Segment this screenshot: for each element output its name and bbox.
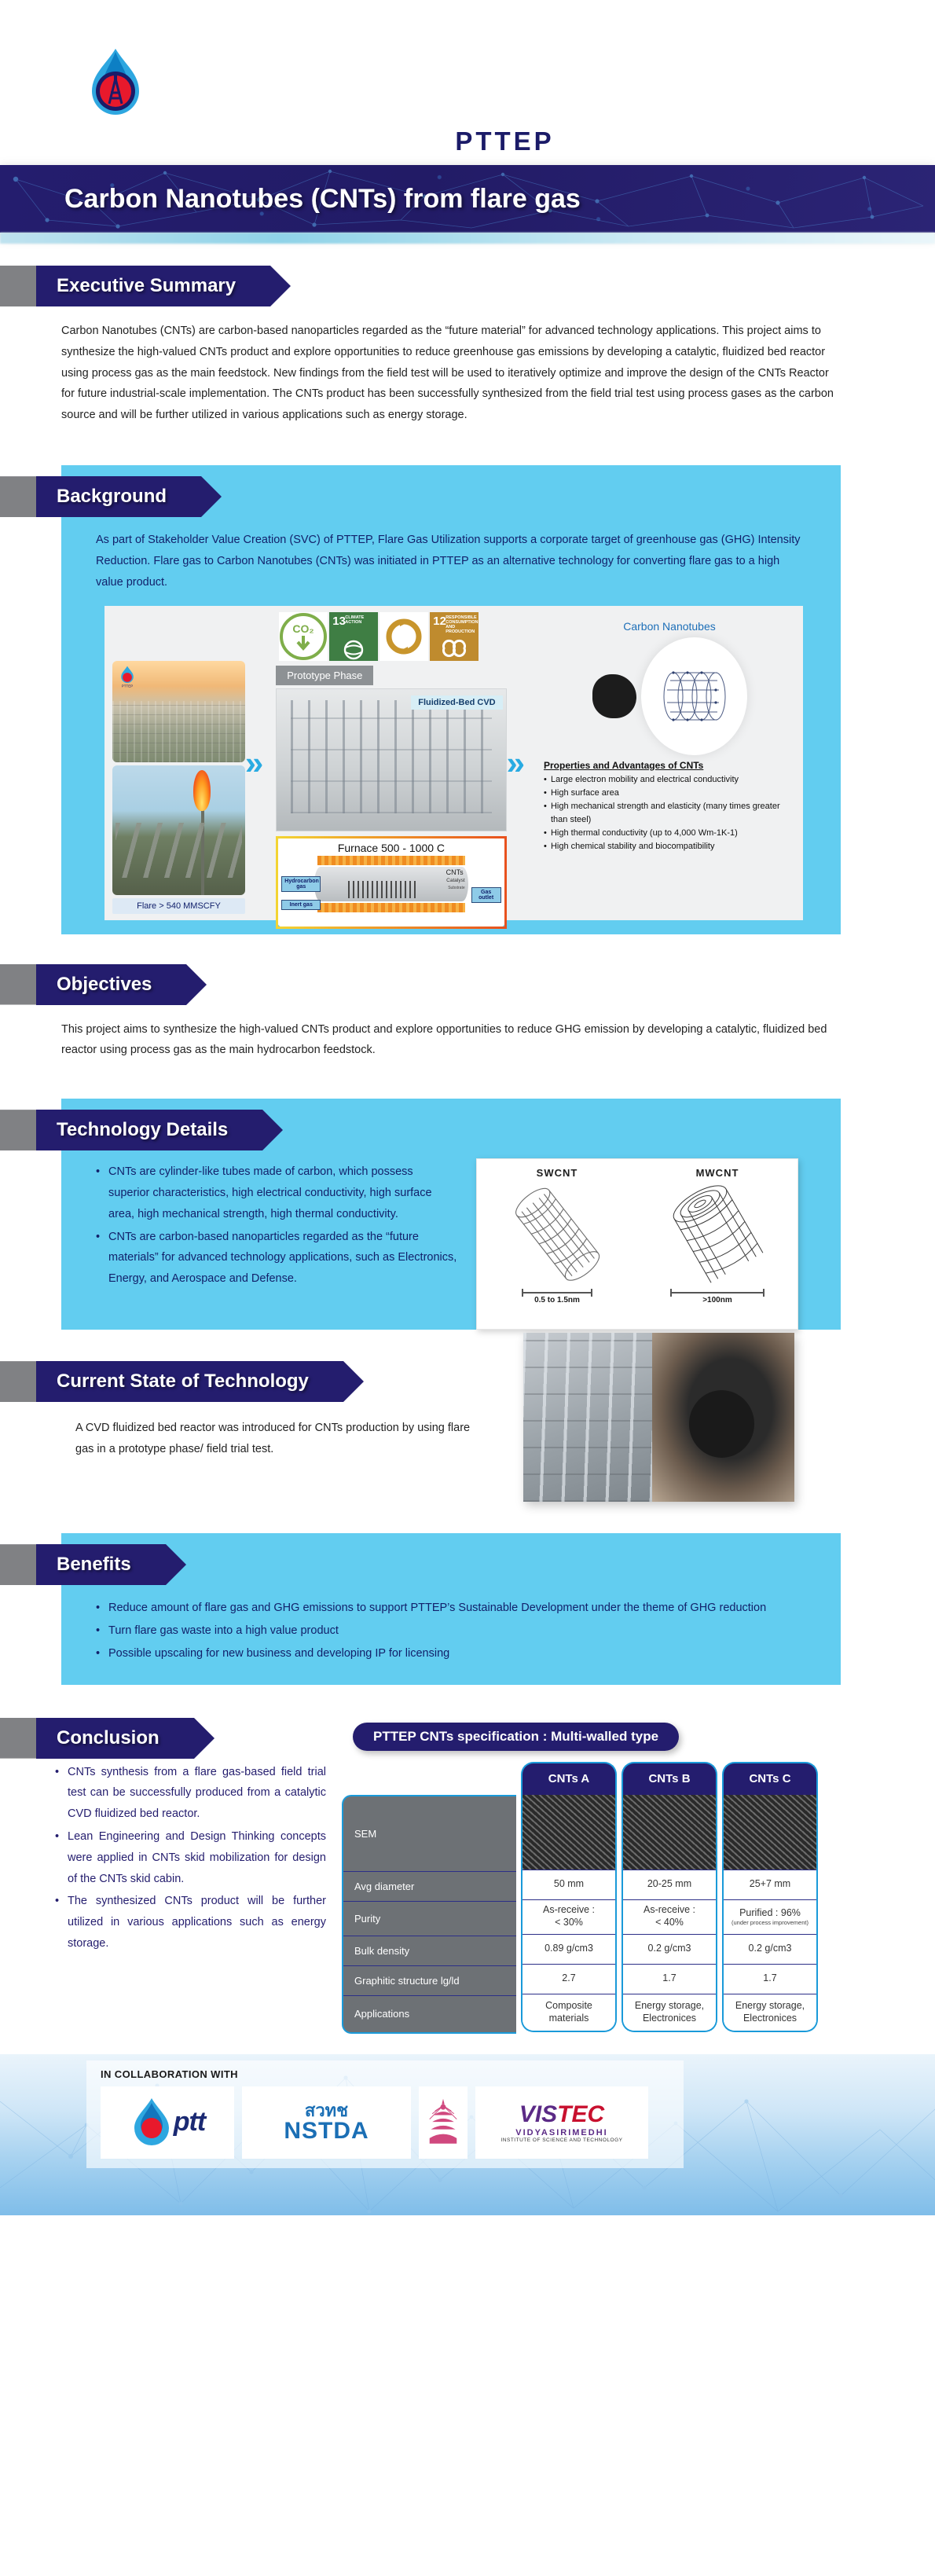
pumpjack-rigs-icon bbox=[115, 823, 242, 878]
cnt-powder-icon bbox=[592, 674, 636, 718]
vistec-institute-line: INSTITUTE OF SCIENCE AND TECHNOLOGY bbox=[501, 2137, 623, 2143]
applications-cnts-a: Composite materials bbox=[522, 1994, 615, 2031]
graphitic-cnts-b: 1.7 bbox=[623, 1965, 716, 1994]
technology-bullets: CNTs are cylinder-like tubes made of car… bbox=[61, 1150, 470, 1310]
swcnt-mwcnt-figure: SWCNT 0.5 to 1.5 bbox=[476, 1158, 798, 1330]
property-item: High chemical stability and biocompatibi… bbox=[544, 840, 795, 853]
graphitic-cnts-c: 1.7 bbox=[724, 1965, 816, 1994]
sem-image-cnts-a bbox=[522, 1795, 615, 1870]
ptt-wordmark: ptt bbox=[174, 2107, 205, 2137]
spec-column-cnts-b: CNTs B 20-25 mm As-receive : < 40% 0.2 g… bbox=[621, 1762, 717, 2034]
reactor-skid-photo: Fluidized-Bed CVD bbox=[276, 688, 506, 831]
background-panel: Background As part of Stakeholder Value … bbox=[61, 465, 841, 934]
executive-summary-text: Carbon Nanotubes (CNTs) are carbon-based… bbox=[0, 306, 935, 442]
benefits-panel: Benefits Reduce amount of flare gas and … bbox=[61, 1533, 841, 1684]
ptt-flame-icon bbox=[130, 2097, 174, 2149]
brand-name: PTTEP bbox=[75, 127, 935, 156]
cnt-powder-scoop-photo bbox=[652, 1333, 794, 1502]
furnace-schematic: Furnace 500 - 1000 C CNTs Catalyst Subst… bbox=[276, 836, 506, 929]
cnts-specification-table-area: PTTEP CNTs specification : Multi-walled … bbox=[342, 1718, 845, 2034]
footer: IN COLLABORATION WITH ptt สวทช NSTDA bbox=[0, 2054, 935, 2215]
inert-gas-input: Inert gas bbox=[281, 900, 321, 910]
spec-table: SEM Avg diameter Purity Bulk density Gra… bbox=[342, 1762, 845, 2034]
bullet-item: CNTs are carbon-based nanoparticles rega… bbox=[96, 1227, 457, 1290]
fluidized-bed-cvd-tag: Fluidized-Bed CVD bbox=[411, 695, 502, 710]
avg-diameter-cnts-b: 20-25 mm bbox=[623, 1870, 716, 1900]
carbon-nanotubes-label: Carbon Nanotubes bbox=[544, 620, 795, 633]
skid-piping-photo bbox=[523, 1333, 652, 1502]
section-title: Current State of Technology bbox=[36, 1361, 343, 1402]
vistec-tec-text: TEC bbox=[557, 2101, 604, 2127]
collaboration-box: IN COLLABORATION WITH ptt สวทช NSTDA bbox=[86, 2060, 684, 2168]
purity-cnts-b: As-receive : < 40% bbox=[623, 1900, 716, 1935]
applications-line2: Electronices bbox=[743, 2013, 797, 2025]
furnace-title: Furnace 500 - 1000 C bbox=[283, 842, 499, 854]
swcnt-label: SWCNT bbox=[480, 1167, 634, 1179]
flare-photo bbox=[112, 765, 245, 894]
sdg-13-climate-action-icon: 13 CLIMATE ACTION bbox=[329, 612, 378, 661]
mwcnt-scale-bar bbox=[670, 1292, 764, 1294]
pttep-flame-rig-logo bbox=[75, 47, 157, 123]
bullet-item: CNTs synthesis from a flare gas-based fi… bbox=[55, 1762, 326, 1825]
section-header-benefits: Benefits bbox=[0, 1544, 841, 1585]
column-header: CNTs C bbox=[722, 1762, 818, 1795]
technology-details-panel: Technology Details CNTs are cylinder-lik… bbox=[61, 1099, 841, 1330]
row-label-graphitic-structure: Graphitic structure lg/ld bbox=[343, 1966, 516, 1996]
bulk-density-cnts-c: 0.2 g/cm3 bbox=[724, 1935, 816, 1965]
section-title: Technology Details bbox=[36, 1110, 262, 1150]
purity-cnts-c: Purified : 96% (under process improvemen… bbox=[724, 1900, 816, 1935]
purity-line1: As-receive : bbox=[643, 1904, 695, 1917]
property-item: High surface area bbox=[544, 787, 795, 800]
bullet-item: Turn flare gas waste into a high value p… bbox=[96, 1620, 809, 1642]
nstda-logo: สวทช NSTDA bbox=[242, 2086, 411, 2159]
crown-emblem-icon bbox=[428, 2093, 458, 2152]
section-title: Background bbox=[36, 476, 201, 517]
current-state-text: A CVD fluidized bed reactor was introduc… bbox=[0, 1402, 519, 1460]
section-title: Conclusion bbox=[36, 1718, 194, 1759]
section-header-objectives: Objectives bbox=[0, 964, 935, 1005]
svg-text:CO₂: CO₂ bbox=[293, 622, 314, 635]
sem-image-cnts-c bbox=[724, 1795, 816, 1870]
bulk-density-cnts-a: 0.89 g/cm3 bbox=[522, 1935, 615, 1965]
nanotube-structure-icon bbox=[641, 637, 747, 755]
section-header-background: Background bbox=[0, 476, 841, 517]
mwcnt-illustration-icon bbox=[654, 1179, 780, 1289]
row-label-sem: SEM bbox=[343, 1796, 516, 1872]
heater-coil-bottom-icon bbox=[317, 903, 464, 912]
section-header-conclusion: Conclusion bbox=[0, 1718, 342, 1759]
objectives-text: This project aims to synthesize the high… bbox=[0, 1005, 935, 1077]
cnt-product-illustration bbox=[544, 637, 795, 755]
section-header-current-state: Current State of Technology bbox=[0, 1361, 519, 1402]
row-label-applications: Applications bbox=[343, 1996, 516, 2032]
section-title: Executive Summary bbox=[36, 266, 270, 306]
bullet-item: CNTs are cylinder-like tubes made of car… bbox=[96, 1161, 457, 1224]
column-header: CNTs B bbox=[621, 1762, 717, 1795]
section-title: Benefits bbox=[36, 1544, 166, 1585]
chulabhorn-crown-logo bbox=[419, 2086, 467, 2159]
column-header: CNTs A bbox=[521, 1762, 617, 1795]
properties-title: Properties and Advantages of CNTs bbox=[544, 760, 795, 771]
catalyst-label: Catalyst bbox=[446, 878, 464, 883]
poster-page: PTTEP Carbon Nanotubes (CNTs) from flare… bbox=[0, 0, 935, 2215]
reactor-field-photo bbox=[523, 1333, 794, 1502]
avg-diameter-cnts-a: 50 mm bbox=[522, 1870, 615, 1900]
bullet-item: Lean Engineering and Design Thinking con… bbox=[55, 1826, 326, 1889]
avg-diameter-cnts-c: 25+7 mm bbox=[724, 1870, 816, 1900]
properties-list: Large electron mobility and electrical c… bbox=[544, 773, 795, 853]
section-header-executive-summary: Executive Summary bbox=[0, 266, 935, 306]
spec-row-label-column: SEM Avg diameter Purity Bulk density Gra… bbox=[342, 1795, 516, 2034]
swcnt-illustration-icon bbox=[494, 1179, 620, 1289]
spec-table-title: PTTEP CNTs specification : Multi-walled … bbox=[353, 1723, 679, 1751]
row-label-purity: Purity bbox=[343, 1902, 516, 1936]
gas-outlet: Gas outlet bbox=[471, 887, 501, 903]
spec-column-cnts-a: CNTs A 50 mm As-receive : < 30% 0.89 g/c… bbox=[521, 1762, 617, 2034]
bullet-item: The synthesized CNTs product will be fur… bbox=[55, 1891, 326, 1954]
mwcnt-scale-label: >100nm bbox=[640, 1296, 794, 1305]
substrate-label: Substrate bbox=[448, 886, 464, 890]
arrow-chevron-icon: » bbox=[507, 744, 517, 782]
partner-logos: ptt สวทช NSTDA bbox=[101, 2086, 684, 2159]
vistec-logo: VISTEC VIDYASIRIMEDHI INSTITUTE OF SCIEN… bbox=[475, 2086, 648, 2159]
title-banner: Carbon Nanotubes (CNTs) from flare gas bbox=[0, 165, 935, 233]
purity-cnts-a: As-receive : < 30% bbox=[522, 1900, 615, 1935]
section-title: Objectives bbox=[36, 964, 186, 1005]
heater-coil-top-icon bbox=[317, 856, 464, 865]
purity-line2: < 40% bbox=[655, 1917, 684, 1929]
svg-text:PTTEP: PTTEP bbox=[122, 684, 134, 688]
property-item: High mechanical strength and elasticity … bbox=[544, 800, 795, 827]
applications-line1: Energy storage, bbox=[635, 2000, 704, 2013]
sdg-co2-icon: CO₂ bbox=[279, 612, 328, 661]
applications-line1: Energy storage, bbox=[735, 2000, 805, 2013]
vistec-vis-text: VIS bbox=[519, 2101, 557, 2127]
spec-column-cnts-c: CNTs C 25+7 mm Purified : 96% (under pro… bbox=[722, 1762, 818, 2034]
sem-image-cnts-b bbox=[623, 1795, 716, 1870]
purity-line1: As-receive : bbox=[543, 1904, 595, 1917]
cnts-label: CNTs bbox=[446, 868, 464, 876]
arrow-chevron-icon: » bbox=[245, 744, 255, 782]
figure-process-column: CO₂ 13 CLIMATE ACTION bbox=[276, 612, 506, 914]
purity-line2: < 30% bbox=[555, 1917, 583, 1929]
bulk-density-cnts-b: 0.2 g/cm3 bbox=[623, 1935, 716, 1965]
figure-product-column: Carbon Nanotubes bbox=[544, 612, 795, 914]
row-label-bulk-density: Bulk density bbox=[343, 1936, 516, 1966]
brand-logo-area: PTTEP bbox=[0, 0, 935, 157]
banner-glow-divider bbox=[0, 233, 935, 244]
purity-note: (under process improvement) bbox=[731, 1919, 808, 1926]
catalyst-substrate-icon bbox=[348, 881, 419, 898]
background-text: As part of Stakeholder Value Creation (S… bbox=[61, 517, 841, 597]
figure-feedstock-column: PTTEP Flare > 540 MMSCFY bbox=[112, 612, 245, 914]
page-title: Carbon Nanotubes (CNTs) from flare gas bbox=[0, 165, 935, 233]
purity-line1: Purified : 96% bbox=[739, 1907, 801, 1920]
vistec-subtitle: VIDYASIRIMEDHI bbox=[515, 2128, 607, 2137]
bullet-item: Possible upscaling for new business and … bbox=[96, 1643, 809, 1664]
bullet-item: Reduce amount of flare gas and GHG emiss… bbox=[96, 1598, 809, 1619]
circular-economy-icon bbox=[379, 612, 428, 661]
collaboration-label: IN COLLABORATION WITH bbox=[101, 2068, 684, 2080]
applications-cnts-c: Energy storage, Electronices bbox=[724, 1994, 816, 2031]
nstda-thai-text: สวทช bbox=[305, 2102, 348, 2119]
swcnt-scale-bar bbox=[522, 1292, 592, 1294]
background-process-figure: PTTEP Flare > 540 MMSCFY » CO₂ bbox=[104, 606, 803, 920]
sdg-badges: CO₂ 13 CLIMATE ACTION bbox=[276, 612, 506, 661]
applications-line1: Composite bbox=[545, 2000, 592, 2013]
conclusion-list: CNTs synthesis from a flare gas-based fi… bbox=[0, 1759, 342, 1954]
hydrocarbon-gas-input: Hydrocarbon gas bbox=[281, 876, 321, 892]
flare-caption: Flare > 540 MMSCFY bbox=[112, 898, 245, 914]
sdg-12-responsible-consumption-icon: 12 RESPONSIBLE CONSUMPTION AND PRODUCTIO… bbox=[430, 612, 478, 661]
prototype-phase-tag: Prototype Phase bbox=[276, 666, 373, 685]
benefits-list: Reduce amount of flare gas and GHG emiss… bbox=[61, 1585, 841, 1684]
swcnt-scale-label: 0.5 to 1.5nm bbox=[480, 1296, 634, 1305]
graphitic-cnts-a: 2.7 bbox=[522, 1965, 615, 1994]
section-header-technology-details: Technology Details bbox=[0, 1110, 841, 1150]
gas-plant-photo: PTTEP bbox=[112, 661, 245, 763]
pttep-logo-small-icon: PTTEP bbox=[117, 666, 137, 689]
row-label-avg-diameter: Avg diameter bbox=[343, 1872, 516, 1902]
ptt-logo: ptt bbox=[101, 2086, 234, 2159]
property-item: Large electron mobility and electrical c… bbox=[544, 773, 795, 787]
mwcnt-label: MWCNT bbox=[640, 1167, 794, 1179]
nstda-wordmark: NSTDA bbox=[284, 2119, 368, 2143]
furnace-tube-icon: CNTs Catalyst Substrate bbox=[314, 867, 467, 901]
flame-icon bbox=[193, 770, 211, 811]
applications-line2: Electronices bbox=[643, 2013, 696, 2025]
property-item: High thermal conductivity (up to 4,000 W… bbox=[544, 827, 795, 840]
applications-line2: materials bbox=[549, 2013, 589, 2025]
applications-cnts-b: Energy storage, Electronices bbox=[623, 1994, 716, 2031]
